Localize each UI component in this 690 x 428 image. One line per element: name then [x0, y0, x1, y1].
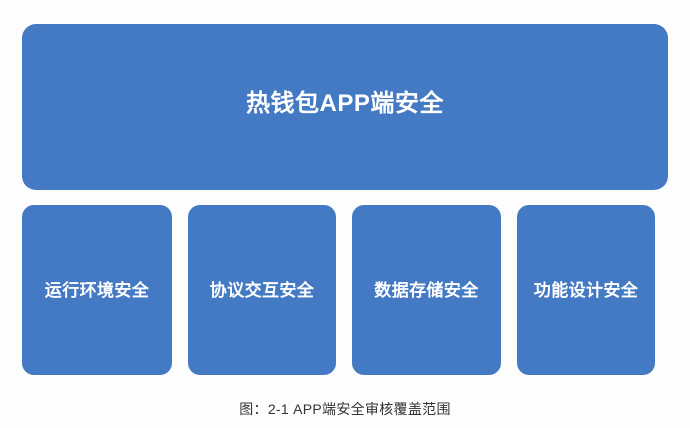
child-node-label: 运行环境安全: [45, 281, 149, 301]
child-node-row: 运行环境安全 协议交互安全 数据存储安全 功能设计安全: [0, 205, 690, 375]
diagram-canvas: 热钱包APP端安全 运行环境安全 协议交互安全 数据存储安全 功能设计安全 图：…: [0, 0, 690, 428]
child-node-label: 功能设计安全: [534, 281, 638, 301]
child-node-protocol-interaction-security[interactable]: 协议交互安全: [188, 205, 336, 375]
child-node-runtime-environment-security[interactable]: 运行环境安全: [22, 205, 172, 375]
parent-node-app-security[interactable]: 热钱包APP端安全: [22, 24, 668, 190]
child-node-functional-design-security[interactable]: 功能设计安全: [517, 205, 655, 375]
child-node-label: 数据存储安全: [374, 281, 478, 301]
child-node-data-storage-security[interactable]: 数据存储安全: [352, 205, 501, 375]
figure-caption: 图：2-1 APP端安全审核覆盖范围: [0, 400, 690, 420]
parent-node-label: 热钱包APP端安全: [246, 90, 444, 119]
child-node-label: 协议交互安全: [210, 281, 314, 301]
